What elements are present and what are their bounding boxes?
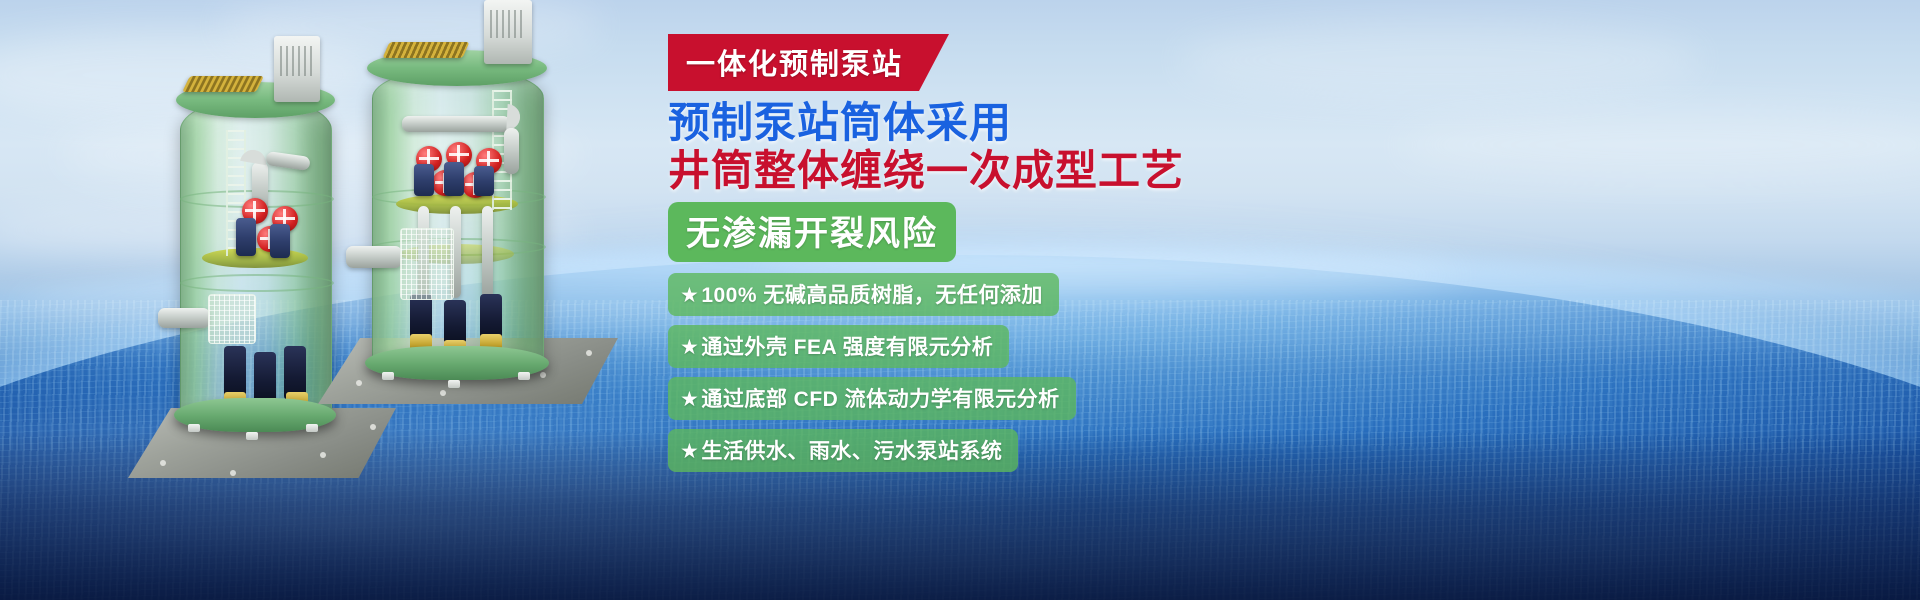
anchor-foot [518, 372, 530, 380]
product-category-tag: 一体化预制泵站 [668, 34, 949, 91]
submersible-pump [444, 162, 464, 196]
feature-item: ★通过底部 CFD 流体动力学有限元分析 [668, 377, 1076, 420]
pump-station-unit-rear [180, 98, 330, 418]
marketing-copy: 一体化预制泵站 预制泵站筒体采用 井筒整体缠绕一次成型工艺 无渗漏开裂风险 ★1… [668, 34, 1428, 481]
anchor-foot [448, 380, 460, 388]
anchor-foot [246, 432, 258, 440]
kiosk-louver [490, 10, 526, 38]
anchor-foot [306, 424, 318, 432]
inlet-pipe [158, 308, 210, 328]
discharge-pipe [504, 128, 519, 174]
feature-item: ★生活供水、雨水、污水泵站系统 [668, 429, 1018, 472]
anchor-foot [188, 424, 200, 432]
headline-primary: 预制泵站筒体采用 [668, 99, 1428, 146]
feature-list: ★100% 无碱高品质树脂，无任何添加 ★通过外壳 FEA 强度有限元分析 ★通… [668, 273, 1428, 481]
feature-item-label: 通过外壳 FEA 强度有限元分析 [701, 336, 993, 359]
anchor-foot [382, 372, 394, 380]
feature-item: ★100% 无碱高品质树脂，无任何添加 [668, 273, 1059, 316]
feature-item-label: 100% 无碱高品质树脂，无任何添加 [701, 284, 1043, 307]
inlet-strainer [208, 294, 256, 344]
submersible-pump [474, 166, 494, 196]
pump-station-unit-front [372, 68, 542, 368]
promotional-banner: 一体化预制泵站 预制泵站筒体采用 井筒整体缠绕一次成型工艺 无渗漏开裂风险 ★1… [0, 0, 1920, 600]
submersible-pump [444, 300, 466, 344]
product-images [120, 20, 680, 500]
submersible-pump [414, 164, 434, 196]
star-icon: ★ [680, 284, 699, 307]
star-icon: ★ [680, 440, 699, 463]
star-icon: ★ [680, 388, 699, 411]
feature-item-label: 生活供水、雨水、污水泵站系统 [701, 440, 1002, 463]
star-icon: ★ [680, 336, 699, 359]
headline-secondary: 井筒整体缠绕一次成型工艺 [668, 147, 1428, 194]
top-grating-hatch [382, 42, 469, 58]
inlet-strainer-basket [400, 228, 454, 300]
shell-ring [180, 274, 334, 292]
submersible-pump [270, 224, 290, 258]
riser-pipe [482, 206, 493, 298]
key-benefit-badge: 无渗漏开裂风险 [668, 202, 956, 262]
kiosk-louver [280, 46, 314, 76]
feature-item: ★通过外壳 FEA 强度有限元分析 [668, 325, 1009, 368]
submersible-pump [236, 218, 256, 256]
submersible-pump [254, 352, 276, 404]
inlet-pipe [346, 246, 402, 268]
top-grating-hatch [182, 76, 264, 92]
feature-item-label: 通过底部 CFD 流体动力学有限元分析 [701, 388, 1059, 411]
